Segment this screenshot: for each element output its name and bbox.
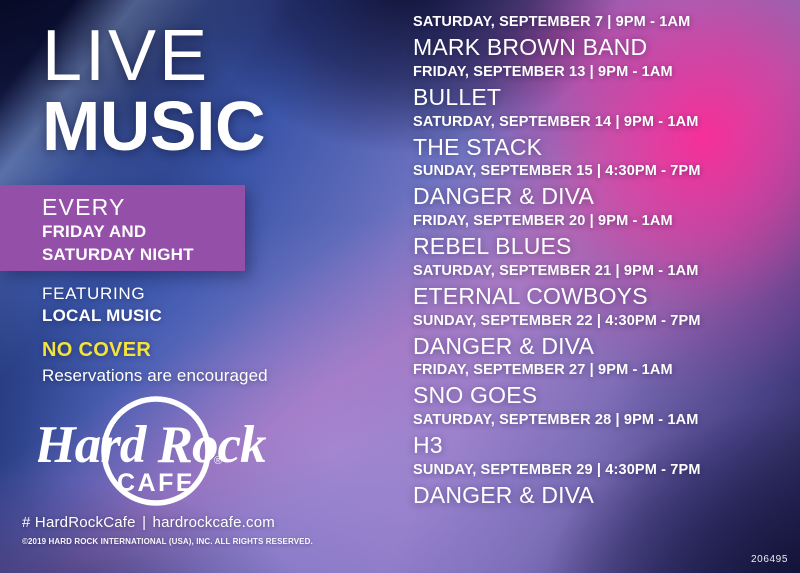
banner-every-label: EVERY — [42, 194, 245, 221]
no-cover-label: NO COVER — [42, 338, 268, 363]
event-artist: THE STACK — [413, 133, 793, 162]
logo-script-text: Hard Rock — [38, 416, 267, 474]
event-artist: H3 — [413, 431, 793, 460]
event-date: SATURDAY, SEPTEMBER 14 | 9PM - 1AM — [413, 112, 793, 133]
featuring-label: FEATURING — [42, 283, 162, 305]
event-artist: MARK BROWN BAND — [413, 33, 793, 62]
event-date: FRIDAY, SEPTEMBER 20 | 9PM - 1AM — [413, 211, 793, 232]
headline-live: LIVE — [42, 22, 265, 91]
footer-separator: | — [140, 514, 148, 531]
hard-rock-cafe-logo: Hard Rock ® CAFE — [38, 392, 268, 510]
event-artist: BULLET — [413, 83, 793, 112]
every-friday-saturday-banner: EVERY FRIDAY AND SATURDAY NIGHT — [0, 185, 245, 271]
event-date: SUNDAY, SEPTEMBER 22 | 4:30PM - 7PM — [413, 311, 793, 332]
event-row: SATURDAY, SEPTEMBER 14 | 9PM - 1AM THE S… — [413, 112, 793, 162]
footer-website[interactable]: hardrockcafe.com — [153, 514, 275, 531]
logo-cafe-text: CAFE — [117, 469, 195, 497]
event-row: FRIDAY, SEPTEMBER 13 | 9PM - 1AM BULLET — [413, 62, 793, 112]
event-artist: SNO GOES — [413, 381, 793, 410]
left-column: LIVE MUSIC EVERY FRIDAY AND SATURDAY NIG… — [0, 0, 400, 573]
event-row: SUNDAY, SEPTEMBER 29 | 4:30PM - 7PM DANG… — [413, 460, 793, 510]
reference-code: 206495 — [751, 554, 788, 565]
event-date: SUNDAY, SEPTEMBER 15 | 4:30PM - 7PM — [413, 161, 793, 182]
poster-headline: LIVE MUSIC — [42, 22, 265, 160]
featuring-block: FEATURING LOCAL MUSIC — [42, 283, 162, 327]
footer-social-line: # HardRockCafe | hardrockcafe.com — [22, 514, 275, 531]
reservations-note: Reservations are encouraged — [42, 365, 268, 388]
event-row: FRIDAY, SEPTEMBER 20 | 9PM - 1AM REBEL B… — [413, 211, 793, 261]
event-date: SATURDAY, SEPTEMBER 21 | 9PM - 1AM — [413, 261, 793, 282]
event-date: SATURDAY, SEPTEMBER 7 | 9PM - 1AM — [413, 12, 793, 33]
event-row: SATURDAY, SEPTEMBER 7 | 9PM - 1AM MARK B… — [413, 12, 793, 62]
event-row: SUNDAY, SEPTEMBER 15 | 4:30PM - 7PM DANG… — [413, 161, 793, 211]
copyright-notice: ©2019 HARD ROCK INTERNATIONAL (USA), INC… — [22, 537, 313, 546]
event-row: SUNDAY, SEPTEMBER 22 | 4:30PM - 7PM DANG… — [413, 311, 793, 361]
event-row: SATURDAY, SEPTEMBER 28 | 9PM - 1AM H3 — [413, 410, 793, 460]
event-row: FRIDAY, SEPTEMBER 27 | 9PM - 1AM SNO GOE… — [413, 360, 793, 410]
event-artist: DANGER & DIVA — [413, 481, 793, 510]
banner-saturday-line: SATURDAY NIGHT — [42, 244, 245, 267]
event-row: SATURDAY, SEPTEMBER 21 | 9PM - 1AM ETERN… — [413, 261, 793, 311]
featuring-value: LOCAL MUSIC — [42, 305, 162, 327]
event-artist: REBEL BLUES — [413, 232, 793, 261]
event-artist: DANGER & DIVA — [413, 182, 793, 211]
event-date: FRIDAY, SEPTEMBER 13 | 9PM - 1AM — [413, 62, 793, 83]
banner-friday-line: FRIDAY AND — [42, 221, 245, 244]
event-schedule-list: SATURDAY, SEPTEMBER 7 | 9PM - 1AM MARK B… — [413, 12, 793, 510]
logo-registered-mark: ® — [214, 455, 222, 467]
footer-hashtag: # HardRockCafe — [22, 514, 136, 531]
event-date: FRIDAY, SEPTEMBER 27 | 9PM - 1AM — [413, 360, 793, 381]
live-music-poster: LIVE MUSIC EVERY FRIDAY AND SATURDAY NIG… — [0, 0, 800, 573]
event-artist: DANGER & DIVA — [413, 332, 793, 361]
cover-block: NO COVER Reservations are encouraged — [42, 338, 268, 388]
event-date: SUNDAY, SEPTEMBER 29 | 4:30PM - 7PM — [413, 460, 793, 481]
event-artist: ETERNAL COWBOYS — [413, 282, 793, 311]
headline-music: MUSIC — [42, 93, 265, 160]
event-date: SATURDAY, SEPTEMBER 28 | 9PM - 1AM — [413, 410, 793, 431]
